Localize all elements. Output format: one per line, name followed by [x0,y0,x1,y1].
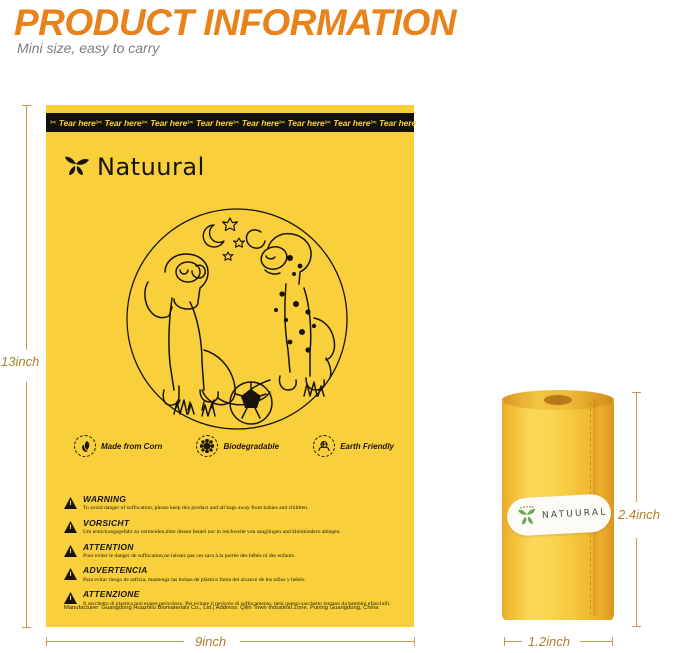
tear-here-item: ✂ Tear here [96,118,142,128]
warning-row: ADVERTENCIA Para evitar riesgo de asfixi… [64,566,402,583]
warning-body: Um erstickungsgefahr zu vermeiden,bitte … [83,529,341,536]
warning-triangle-icon [64,521,77,533]
dim-cap-height-top [22,105,31,106]
tear-here-item: ✂ Tear here [142,118,188,128]
scissors-icon: ✂ [96,119,103,127]
tear-here-label: Tear here [196,118,233,128]
warning-row: ATTENTION Pour eviter le danger de suffo… [64,543,402,560]
warning-heading: ATTENTION [83,543,295,552]
tear-here-strip: ✂ Tear here ✂ Tear here ✂ Tear here ✂ Te… [46,113,414,132]
badge-earth-friendly: Earth Friendly [313,435,394,457]
page-subtitle: Mini size, easy to carry [17,40,159,56]
dim-cap-roll-width-left [504,637,505,646]
butterfly-leaf-icon [64,155,90,179]
dim-cap-roll-width-right [612,637,613,646]
dim-cap-roll-height-top [632,392,641,393]
dim-cap-height-bottom [22,627,31,628]
brand-lockup: Natuural [64,153,205,181]
dim-line-height-lower [26,382,27,627]
warning-row: VORSICHT Um erstickungsgefahr zu vermeid… [64,519,402,536]
badge-biodegradable: Biodegradable [196,435,279,457]
corn-icon [74,435,96,457]
tear-here-label: Tear here [288,118,325,128]
hands-earth-icon [313,435,335,457]
page-title: PRODUCT INFORMATION [14,2,456,44]
dim-label-roll-width: 1.2inch [523,634,575,649]
warning-heading: ATTENZIONE [83,590,390,599]
roll-core-hole [544,395,572,405]
molecule-icon [196,435,218,457]
tear-here-item: ✂ Tear here [325,118,371,128]
feature-badges: Made from Corn Biodegradable [74,435,394,457]
warning-body: Pour eviter le danger de suffocation,ne … [83,553,295,560]
scissors-icon: ✂ [370,119,377,127]
badge-label: Made from Corn [101,442,162,451]
two-dogs-circle-illustration [118,200,356,438]
warning-heading: WARNING [83,495,308,504]
tear-here-label: Tear here [59,118,96,128]
badge-label: Earth Friendly [340,442,394,451]
tear-here-item: ✂ Tear here [50,118,96,128]
manufacturer-line: Manufacturer: Guangdong Huazhilu Biomate… [64,605,406,611]
badge-label: Biodegradable [223,442,279,451]
dim-cap-width-right [414,637,415,646]
warning-row: WARNING To avoid danger of suffocation, … [64,495,402,512]
scissors-icon: ✂ [279,119,286,127]
tear-here-item: ✂ Tear here [187,118,233,128]
warning-list: WARNING To avoid danger of suffocation, … [64,495,402,614]
dim-cap-roll-height-bottom [632,626,641,627]
warning-body: Para evitar riesgo de asfixia, mantenga … [83,577,305,584]
tear-here-label: Tear here [104,118,141,128]
dim-label-bag-height: 13inch [0,352,40,371]
warning-triangle-icon [64,568,77,580]
scissors-icon: ✂ [325,119,332,127]
tear-here-label: Tear here [379,118,416,128]
poop-bag-front: ✂ Tear here ✂ Tear here ✂ Tear here ✂ Te… [46,105,414,627]
badge-made-from-corn: Made from Corn [74,435,162,457]
roll-label-text: NATUURAL [542,507,608,520]
green-leaves-icon [515,505,538,528]
dim-line-roll-width-left [504,641,522,642]
brand-name: Natuural [97,153,205,181]
tear-here-label: Tear here [333,118,370,128]
dim-line-roll-height-lower [636,538,637,626]
warning-body: To avoid danger of suffocation, please k… [83,505,308,512]
dim-line-roll-height-upper [636,392,637,502]
scissors-icon: ✂ [233,119,240,127]
tear-here-label: Tear here [150,118,187,128]
scissors-icon: ✂ [142,119,149,127]
warning-heading: ADVERTENCIA [83,566,305,575]
warning-triangle-icon [64,545,77,557]
tear-here-item: ✂ Tear here [370,118,416,128]
bag-roll: NATUURAL [502,388,614,625]
warning-heading: VORSICHT [83,519,341,528]
warning-triangle-icon [64,497,77,509]
dim-line-width-right [240,641,414,642]
dim-line-roll-width-right [580,641,612,642]
dim-label-bag-width: 9inch [189,634,232,649]
tear-here-label: Tear here [242,118,279,128]
dim-cap-width-left [46,637,47,646]
tear-here-item: ✂ Tear here [279,118,325,128]
product-information-page: PRODUCT INFORMATION Mini size, easy to c… [0,0,679,653]
roll-label: NATUURAL [506,493,612,536]
warning-triangle-icon [64,592,77,604]
dim-line-height-upper [26,105,27,350]
tear-here-item: ✂ Tear here [233,118,279,128]
dim-label-roll-height: 2.4inch [615,505,663,524]
dim-line-width-left [46,641,184,642]
scissors-icon: ✂ [50,119,57,127]
scissors-icon: ✂ [187,119,194,127]
